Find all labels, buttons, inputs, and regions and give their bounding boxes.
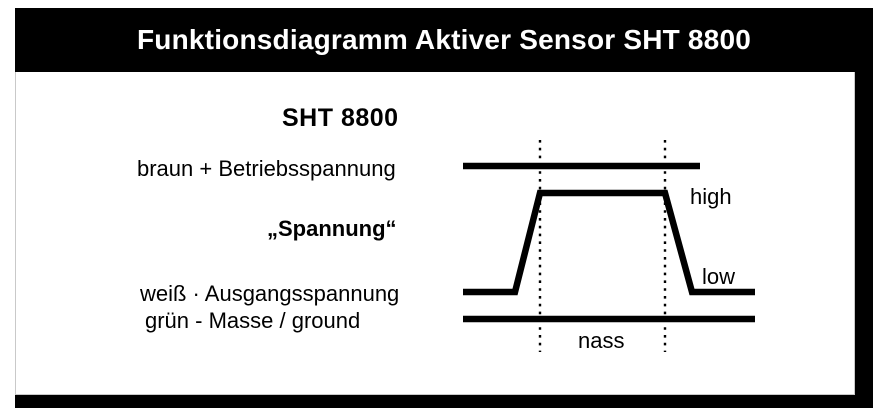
header-bar: Funktionsdiagramm Aktiver Sensor SHT 880… bbox=[15, 8, 873, 72]
frame-right-edge bbox=[855, 72, 873, 395]
level-label-low: low bbox=[702, 266, 735, 288]
diagram-page: Funktionsdiagramm Aktiver Sensor SHT 880… bbox=[0, 0, 887, 410]
frame-bottom-edge bbox=[15, 395, 873, 408]
diagram-panel bbox=[15, 72, 855, 395]
wire-label-braun: braun + Betriebsspannung bbox=[137, 158, 396, 180]
wire-label-weiss: weiß · Ausgangsspannung bbox=[140, 283, 399, 305]
state-label-nass: nass bbox=[578, 330, 624, 352]
device-name: SHT 8800 bbox=[282, 106, 399, 131]
level-label-high: high bbox=[690, 186, 732, 208]
wire-label-gruen: grün - Masse / ground bbox=[145, 310, 360, 332]
signal-word-spannung: „Spannung“ bbox=[267, 218, 397, 240]
page-title: Funktionsdiagramm Aktiver Sensor SHT 880… bbox=[15, 8, 873, 72]
